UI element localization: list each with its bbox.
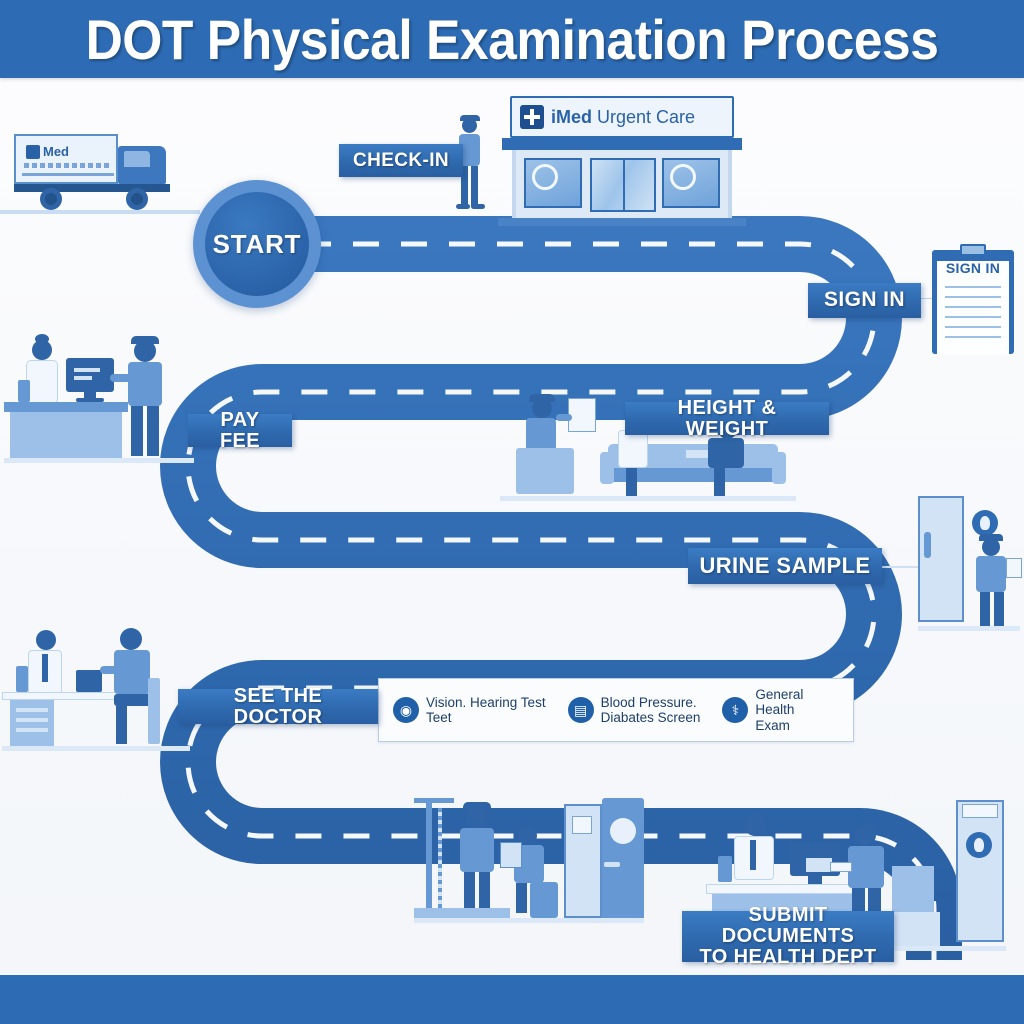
figure-arm xyxy=(110,374,132,382)
paper-document xyxy=(830,862,852,872)
couch-armrest xyxy=(772,452,786,484)
page-title: DOT Physical Examination Process xyxy=(41,0,983,78)
waste-bin xyxy=(530,882,558,918)
figure-hair-bun xyxy=(35,334,49,344)
figure-leg xyxy=(464,872,475,910)
restroom-door xyxy=(602,798,644,918)
illustration-signin-clipboard: SIGN IN xyxy=(932,244,1014,354)
drawer-line xyxy=(16,728,48,732)
scene-floor-line xyxy=(500,496,796,501)
illustration-clinic-storefront: iMed Urgent Care xyxy=(498,96,746,226)
monitor-content-line xyxy=(74,368,100,372)
figure-torso-plaid xyxy=(848,846,884,888)
door-handle xyxy=(924,532,931,558)
submit-label-line1: SUBMIT DOCUMENTS xyxy=(692,905,884,947)
figure-leg xyxy=(116,706,127,744)
step-label-check-in[interactable]: CHECK-IN xyxy=(339,144,463,177)
scene-floor-line xyxy=(2,746,190,751)
figure-arm xyxy=(556,414,572,421)
figure-cap xyxy=(463,802,491,810)
test-label-line: Exam xyxy=(755,718,803,733)
window-decal-icon xyxy=(670,164,696,190)
illustration-height-weight-station xyxy=(414,790,644,946)
test-label-line: Blood Pressure. xyxy=(601,695,701,710)
figure-leg xyxy=(994,592,1004,626)
reception-counter-top xyxy=(4,402,128,412)
footer-banner xyxy=(0,975,1024,1024)
figure-necktie xyxy=(750,840,756,870)
counter-top xyxy=(706,884,864,894)
truck-wheel xyxy=(126,188,148,210)
scene-floor-line xyxy=(918,626,1020,631)
figure-cap xyxy=(529,394,555,402)
door-transom xyxy=(962,804,998,818)
figure-leg xyxy=(980,592,990,626)
figure-torso xyxy=(708,438,744,468)
figure-leg xyxy=(131,406,143,456)
paper-document xyxy=(568,398,596,432)
figure-arm xyxy=(100,666,118,674)
infographic-canvas: DOT Physical Examination Process Med iMe… xyxy=(0,0,1024,1024)
figure-head xyxy=(120,628,142,650)
cabinet-base xyxy=(886,912,940,946)
clinic-awning xyxy=(502,138,742,150)
clinic-facade xyxy=(512,150,732,218)
medical-cross-icon xyxy=(520,105,544,129)
test-item-general-exam[interactable]: ⚕ General Health Exam xyxy=(722,687,803,732)
figure-shoe xyxy=(471,204,485,209)
clipboard-rule xyxy=(945,336,1001,338)
illustration-doctor-office xyxy=(2,622,192,772)
truck-cargo-box: Med xyxy=(14,134,118,184)
test-label-line: Teet xyxy=(426,710,546,725)
test-label-line: Vision. Hearing Test xyxy=(426,695,546,710)
monitor-stand xyxy=(808,876,822,884)
figure-leg xyxy=(471,166,478,206)
start-node[interactable]: START xyxy=(193,180,321,308)
stethoscope-icon: ⚕ xyxy=(722,697,748,723)
clipboard-rule xyxy=(945,326,1001,328)
restroom-person-icon xyxy=(972,510,998,536)
side-door xyxy=(956,800,1004,942)
test-item-label: General Health Exam xyxy=(755,687,803,732)
drawer-line xyxy=(16,708,48,712)
truck-logo-text: Med xyxy=(43,144,69,159)
filing-cabinet xyxy=(892,866,934,916)
desk-top xyxy=(2,692,128,700)
doctor-tests-panel: ◉ Vision. Hearing Test Teet ▤ Blood Pres… xyxy=(378,678,854,742)
figure-head xyxy=(854,824,876,846)
figure-head xyxy=(744,814,766,836)
step-label-see-the-doctor[interactable]: SEE THE DOCTOR xyxy=(178,689,378,724)
test-label-line: General xyxy=(755,687,803,702)
restroom-person-icon xyxy=(610,818,636,844)
illustration-delivery-truck: Med xyxy=(14,128,180,214)
clipboard-rule xyxy=(945,306,1001,308)
desk-chair xyxy=(18,380,30,402)
clipboard-clip xyxy=(960,244,986,256)
clipboard-rule xyxy=(945,286,1001,288)
test-item-vision-hearing[interactable]: ◉ Vision. Hearing Test Teet xyxy=(393,695,546,725)
restroom-door xyxy=(918,496,964,622)
figure-leg xyxy=(516,883,527,913)
submit-label-line2: TO HEALTH DEPT xyxy=(699,947,876,968)
figure-torso-plaid xyxy=(114,650,150,694)
truck-cab-window xyxy=(124,151,150,167)
clinic-sign: iMed Urgent Care xyxy=(510,96,734,138)
figure-torso-plaid xyxy=(460,828,494,872)
truck-ground-line xyxy=(0,210,200,214)
stadiometer-post xyxy=(426,798,432,908)
desk-chair xyxy=(718,856,732,882)
imed-logo-mark-icon xyxy=(26,145,40,159)
stadiometer-ruler xyxy=(438,808,442,908)
truck-decal-lines xyxy=(24,163,110,168)
scene-floor-line xyxy=(4,458,194,463)
truck-chassis xyxy=(14,184,170,192)
clinic-name: iMed Urgent Care xyxy=(551,107,695,128)
clipboard-rule xyxy=(945,316,1001,318)
illustration-reception-desk xyxy=(4,334,200,494)
patient-chair xyxy=(148,678,160,744)
scene-floor-line xyxy=(414,918,644,923)
scale-base xyxy=(454,908,510,918)
test-label-line: Health xyxy=(755,702,803,717)
couch-armrest xyxy=(600,452,614,484)
reception-counter-front xyxy=(10,412,122,458)
step-label-pay-fee[interactable]: PAY FEE xyxy=(188,414,292,447)
monitor-content-line xyxy=(806,858,832,872)
figure-leg xyxy=(147,406,159,456)
truck-logo: Med xyxy=(26,144,69,159)
restroom-person-icon xyxy=(966,832,992,858)
laptop-screen xyxy=(76,670,102,692)
illustration-restroom-entrance xyxy=(918,496,1020,632)
drawer-line xyxy=(16,718,48,722)
clinic-sidewalk xyxy=(498,218,746,226)
window-decal-icon xyxy=(532,164,558,190)
test-item-blood-pressure[interactable]: ▤ Blood Pressure. Diabates Screen xyxy=(568,695,701,725)
connector-line-urine xyxy=(878,566,922,568)
step-label-urine-sample[interactable]: URINE SAMPLE xyxy=(688,548,882,584)
stadiometer-headpiece xyxy=(414,798,454,803)
desk-drawers xyxy=(10,700,54,746)
step-label-height-weight[interactable]: HEIGHT & WEIGHT xyxy=(625,402,829,435)
blood-pressure-icon: ▤ xyxy=(568,697,594,723)
eye-icon: ◉ xyxy=(393,697,419,723)
figure-torso-plaid xyxy=(128,362,162,406)
monitor-content-line xyxy=(74,376,92,380)
figure-cap xyxy=(131,336,159,344)
figure-cap xyxy=(979,534,1003,541)
figure-torso xyxy=(976,556,1006,592)
test-label-line: Diabates Screen xyxy=(601,710,701,725)
truck-wheel xyxy=(40,188,62,210)
figure-head xyxy=(36,630,56,650)
test-item-label: Blood Pressure. Diabates Screen xyxy=(601,695,701,725)
clipboard-heading: SIGN IN xyxy=(932,260,1014,276)
tablet-device xyxy=(500,842,522,868)
start-node-inner: START xyxy=(205,192,309,296)
clinic-door xyxy=(590,158,656,212)
figure-lab-coat xyxy=(26,360,58,404)
step-label-sign-in[interactable]: SIGN IN xyxy=(808,283,921,318)
monitor-screen xyxy=(66,358,114,392)
step-label-submit-documents[interactable]: SUBMIT DOCUMENTS TO HEALTH DEPT xyxy=(682,911,894,962)
paper-document xyxy=(1006,558,1022,578)
start-label: START xyxy=(213,229,302,260)
figure-shoe xyxy=(456,204,470,209)
handheld-item xyxy=(686,450,708,458)
test-item-label: Vision. Hearing Test Teet xyxy=(426,695,546,725)
figure-leg xyxy=(479,872,490,910)
figure-necktie xyxy=(42,654,48,682)
wall-notice xyxy=(572,816,592,834)
desk-chair xyxy=(16,666,28,692)
door-handle xyxy=(604,862,620,867)
clipboard-rule xyxy=(945,296,1001,298)
figure-cap xyxy=(460,115,480,121)
armchair xyxy=(516,448,574,494)
truck-decal-stripe xyxy=(22,173,114,176)
